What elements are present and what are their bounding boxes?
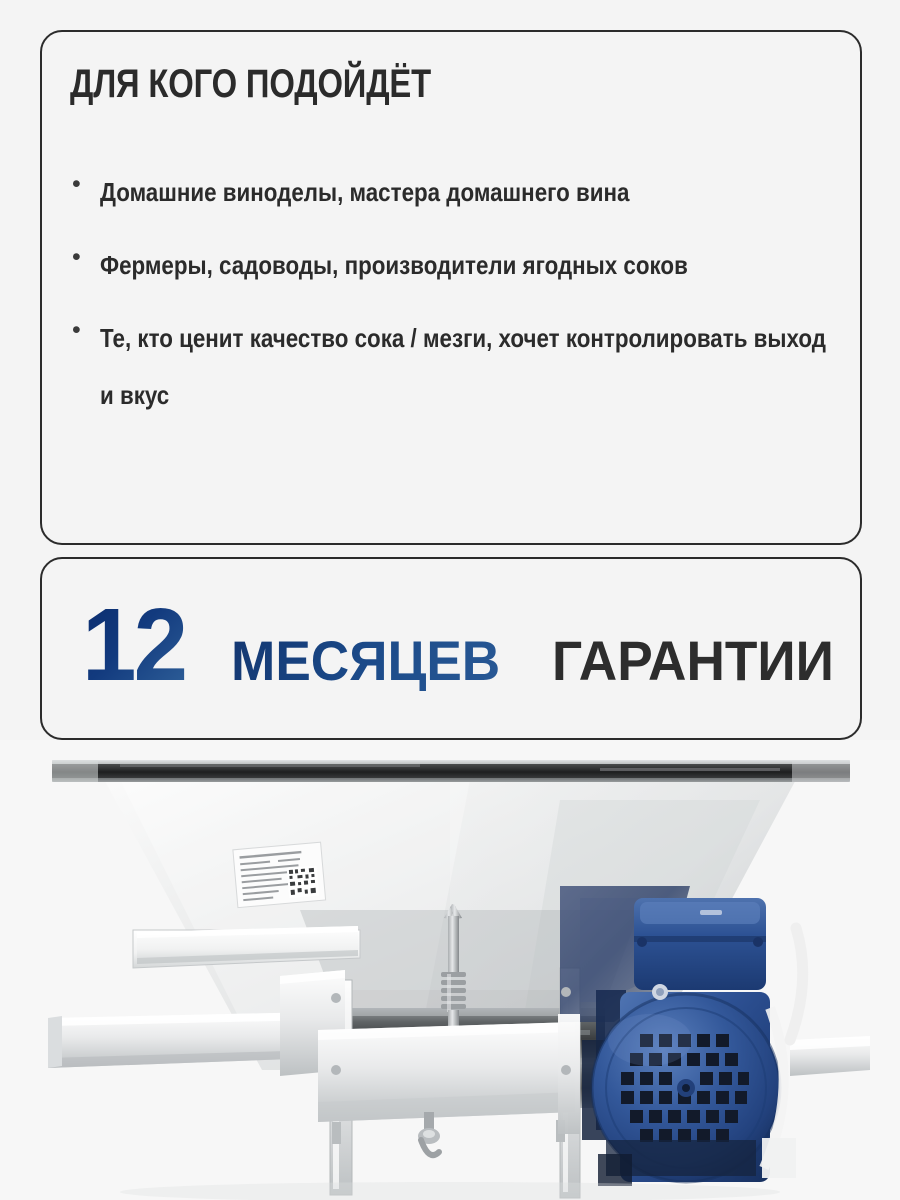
warranty-row: 12 МЕСЯЦЕВ ГАРАНТИИ xyxy=(82,595,849,705)
grape-crusher-illustration xyxy=(0,740,900,1200)
list-item: • Фермеры, садоводы, производители ягодн… xyxy=(70,237,840,294)
warranty-word-label: ГАРАНТИИ xyxy=(552,611,834,711)
bullet-icon: • xyxy=(72,310,81,351)
warranty-months-label: МЕСЯЦЕВ xyxy=(231,611,500,711)
audience-card: ДЛЯ КОГО ПОДОЙДЁТ • Домашние виноделы, м… xyxy=(40,30,862,545)
page-title: ДЛЯ КОГО ПОДОЙДЁТ xyxy=(70,62,431,106)
bullet-icon: • xyxy=(72,237,81,278)
product-info-label xyxy=(233,842,326,907)
bullet-icon: • xyxy=(72,164,81,205)
audience-list: • Домашние виноделы, мастера домашнего в… xyxy=(70,164,840,424)
warranty-number: 12 xyxy=(82,595,185,695)
warranty-card: 12 МЕСЯЦЕВ ГАРАНТИИ xyxy=(40,557,862,740)
list-item-label: Домашние виноделы, мастера домашнего вин… xyxy=(100,164,838,221)
list-item-label: Фермеры, садоводы, производители ягодных… xyxy=(100,237,838,294)
hopper-top-rim xyxy=(52,760,850,782)
list-item-label: Те, кто ценит качество сока / мезги, хоч… xyxy=(100,310,838,424)
list-item: • Домашние виноделы, мастера домашнего в… xyxy=(70,164,840,221)
product-photo xyxy=(0,740,900,1200)
list-item: • Те, кто ценит качество сока / мезги, х… xyxy=(70,310,840,424)
motor-junction-box xyxy=(634,898,766,990)
